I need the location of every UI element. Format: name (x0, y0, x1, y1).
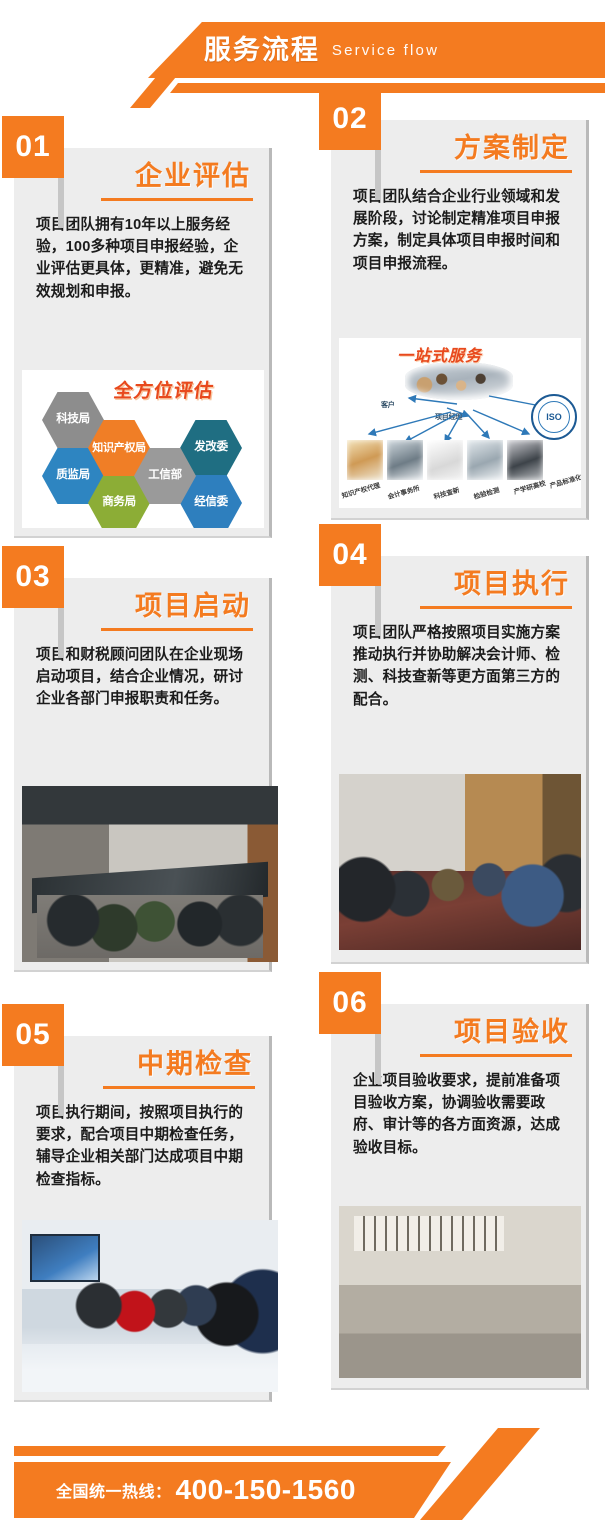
step-title: 企业评估 (135, 162, 251, 192)
step-description: 项目执行期间，按照项目执行的要求，配合项目中期检查任务，辅导企业相关部门达成项目… (36, 1102, 253, 1191)
header-title-group: 服务流程 Service flow (0, 26, 605, 74)
artwork-title: 全方位评估 (112, 376, 216, 403)
artwork-thumb-search (427, 440, 463, 480)
step-description: 项目和财税顾问团队在企业现场启动项目，结合企业情况，研讨企业各部门申报职责和任务… (36, 644, 253, 711)
artwork-label-row: 知识产权代理 会计事务所 科技查新 检验检测 产学研高校 产品标准化 (339, 480, 581, 506)
title-underline (420, 1054, 572, 1057)
photo-site-visit (22, 1220, 278, 1392)
step-description: 项目团队严格按照项目实施方案推动执行并协助解决会计师、检测、科技查新等更方面第三… (353, 622, 570, 711)
hexagon-cluster-artwork: 全方位评估 科技局 知识产权局 质监局 工信部 商务局 发改委 经信委 (22, 370, 264, 528)
hotline-label: 全国统一热线： (56, 1478, 172, 1502)
hex-node-label: 质监局 (56, 469, 90, 482)
step-photo (339, 774, 581, 950)
page-header: 服务流程 Service flow (0, 0, 605, 108)
step-description: 企业项目验收要求，提前准备项目验收方案，协调验收需要政府、审计等的各方面资源，达… (353, 1070, 570, 1159)
page-subtitle: Service flow (332, 43, 439, 58)
step-description: 项目团队拥有10年以上服务经验，100多种项目申报经验，企业评估更具体，更精准，… (36, 214, 253, 303)
photo-acceptance-meeting (339, 1206, 581, 1378)
hex-node-label: 发改委 (194, 441, 228, 454)
page-footer: 全国统一热线： 400-150-1560 (0, 1410, 605, 1538)
artwork-label: 会计事务所 (386, 482, 420, 501)
artwork-label: 科技查新 (432, 484, 460, 501)
artwork-label: 检验检测 (472, 484, 500, 501)
artwork-label: 知识产权代理 (340, 479, 381, 500)
artwork-thumb-accounting (387, 440, 423, 480)
hex-node-label: 商务局 (102, 496, 136, 509)
step-number-badge: 04 (319, 524, 381, 586)
step-card-04: 04 项目执行 项目团队严格按照项目实施方案推动执行并协助解决会计师、检测、科技… (331, 556, 589, 964)
step-title: 方案制定 (454, 134, 570, 164)
infographic-page: 服务流程 Service flow 01 企业评估 项目团队拥有10年以上服务经… (0, 0, 605, 1538)
hex-node-label: 知识产权局 (92, 442, 146, 455)
step-title: 项目启动 (135, 592, 251, 622)
title-underline (101, 628, 253, 631)
step-number-badge: 05 (2, 1004, 64, 1066)
hotline-group: 全国统一热线： 400-150-1560 (56, 1462, 356, 1518)
step-description: 项目团队结合企业行业领域和发展阶段，讨论制定精准项目申报方案，制定具体项目申报时… (353, 186, 570, 275)
header-orange-stripe (0, 83, 605, 93)
step-card-01: 01 企业评估 项目团队拥有10年以上服务经验，100多种项目申报经验，企业评估… (14, 148, 272, 538)
step-number-badge: 02 (319, 88, 381, 150)
step-number-badge: 03 (2, 546, 64, 608)
hex-node-label: 经信委 (194, 496, 228, 509)
title-underline (101, 198, 253, 201)
iso-seal-icon: ISO (531, 394, 577, 440)
step-photo (22, 786, 278, 962)
artwork-label: 产学研高校 (512, 477, 546, 496)
step-number-badge: 01 (2, 116, 64, 178)
step-card-03: 03 项目启动 项目和财税顾问团队在企业现场启动项目，结合企业情况，研讨企业各部… (14, 578, 272, 972)
step-card-02: 02 方案制定 项目团队结合企业行业领域和发展阶段，讨论制定精准项目申报方案，制… (331, 120, 589, 520)
step-card-05: 05 中期检查 项目执行期间，按照项目执行的要求，配合项目中期检查任务，辅导企业… (14, 1036, 272, 1402)
title-underline (420, 170, 572, 173)
artwork-thumb-university (507, 440, 543, 480)
artwork-thumb-ip (347, 440, 383, 480)
step-title: 项目验收 (454, 1018, 570, 1048)
step-photo (22, 1220, 278, 1392)
artwork-thumb-testing (467, 440, 503, 480)
photo-meeting-room (22, 786, 278, 962)
photo-working-session (339, 774, 581, 950)
hotline-number[interactable]: 400-150-1560 (176, 1476, 356, 1504)
artwork-title: 一站式服务 (397, 342, 482, 366)
hex-node-label: 工信部 (148, 469, 182, 482)
page-title: 服务流程 (204, 37, 320, 64)
step-title: 中期检查 (137, 1050, 253, 1080)
step-number-badge: 06 (319, 972, 381, 1034)
step-photo (339, 1206, 581, 1378)
title-underline (103, 1086, 255, 1089)
title-underline (420, 606, 572, 609)
step-card-06: 06 项目验收 企业项目验收要求，提前准备项目验收方案，协调验收需要政府、审计等… (331, 1004, 589, 1390)
hex-node-label: 科技局 (56, 413, 90, 426)
step-title: 项目执行 (454, 570, 570, 600)
one-stop-service-artwork: 一站式服务 客户 项目经理 (339, 338, 581, 508)
